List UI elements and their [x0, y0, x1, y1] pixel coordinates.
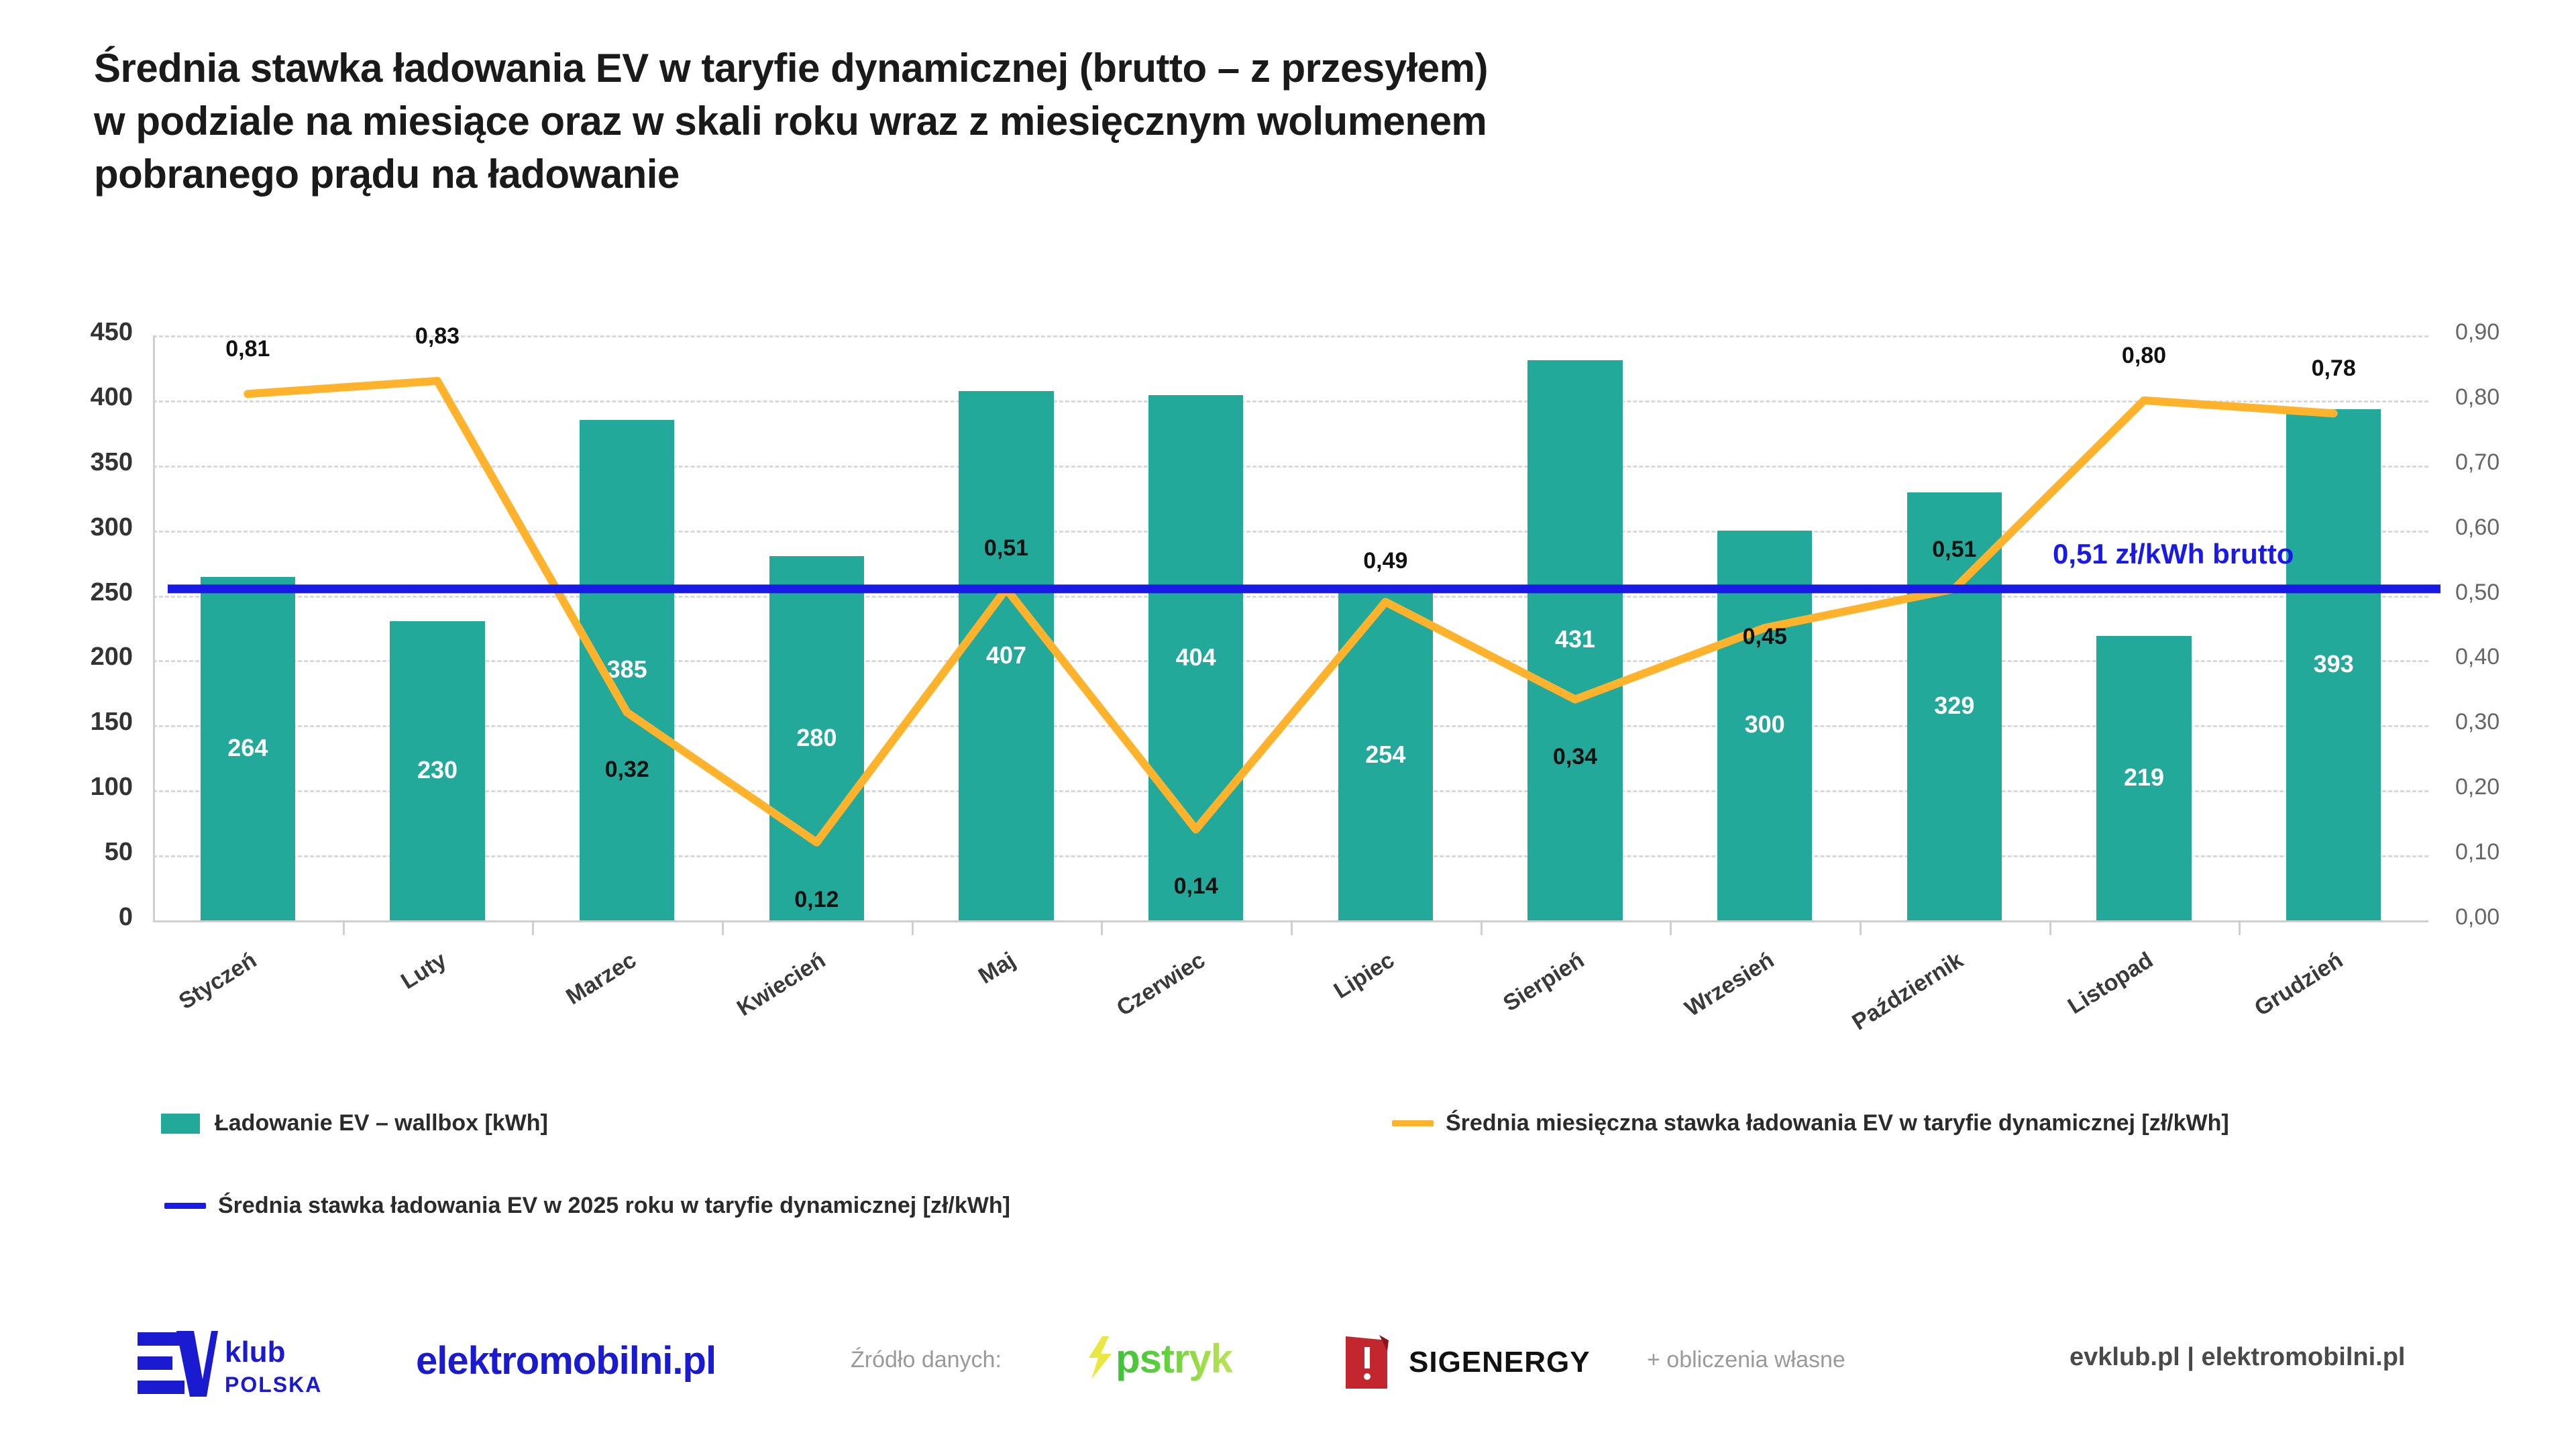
line-value-labels: 0,810,830,320,120,510,140,490,340,450,51…	[0, 0, 2576, 1449]
line-value-label: 0,51	[926, 535, 1087, 561]
line-value-label: 0,80	[2063, 343, 2224, 369]
line-value-label: 0,83	[357, 323, 518, 350]
line-value-label: 0,49	[1305, 548, 1466, 574]
line-value-label: 0,14	[1116, 873, 1277, 900]
average-annotation: 0,51 zł/kWh brutto	[2053, 538, 2294, 570]
line-value-label: 0,81	[167, 336, 328, 362]
line-value-label: 0,45	[1684, 624, 1845, 650]
line-value-label: 0,32	[547, 757, 708, 783]
chart-page: Średnia stawka ładowania EV w taryfie dy…	[0, 0, 2576, 1449]
line-value-label: 0,34	[1495, 744, 1656, 770]
line-value-label: 0,12	[736, 887, 897, 913]
line-value-label: 0,78	[2253, 356, 2414, 382]
line-value-label: 0,51	[1874, 537, 2035, 563]
